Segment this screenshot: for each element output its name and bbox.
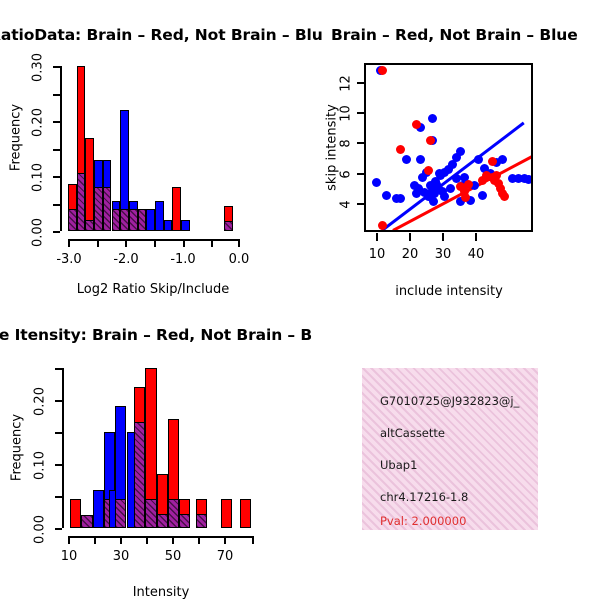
scatter-y-ticklabel: 10 (339, 99, 354, 129)
scatter-y-ticklabel: 8 (339, 129, 354, 159)
scatter-y-ticklabel: 12 (339, 69, 354, 99)
scatter-point (440, 192, 449, 201)
scatter-point (378, 221, 387, 230)
intensity-x-tick (198, 536, 200, 544)
scatter-point (396, 145, 405, 154)
histogram-bar (93, 490, 104, 528)
histogram-bar (109, 490, 116, 528)
intensity-y-tick (55, 464, 62, 466)
ratio-y-tick (53, 66, 60, 68)
intensity-x-tick (146, 536, 148, 544)
scatter-point (446, 184, 455, 193)
intensity-y-tick (55, 368, 62, 370)
scatter-y-tick (357, 82, 364, 84)
histogram-bar (81, 515, 92, 528)
scatter-point (478, 176, 487, 185)
ratio-y-tick (53, 176, 60, 178)
histogram-bar (112, 209, 121, 231)
ratio-y-tick (53, 94, 60, 96)
scatter-point (416, 155, 425, 164)
intensity-x-tick (68, 536, 70, 544)
scatter-plot-area (364, 63, 533, 232)
ratio-x-tick (183, 239, 185, 247)
histogram-bar (196, 514, 207, 528)
scatter-point (488, 157, 497, 166)
scatter-point (412, 189, 421, 198)
histogram-bar (221, 499, 232, 528)
intensity-y-ticklabel: 0.10 (33, 446, 48, 486)
scatter-x-ticklabel: 40 (456, 247, 496, 262)
ratio-y-ticklabel: 0.00 (31, 213, 46, 253)
intensity-y-tick (55, 400, 62, 402)
ratio-x-tick (125, 239, 127, 247)
histogram-bar (155, 201, 164, 231)
event-info-panel: G7010725@J932823@j_ altCassette Ubap1 ch… (362, 368, 538, 530)
ratio-histogram-title: RatioData: Brain – Red, Not Brain – Blu (0, 26, 323, 44)
ratio-x-tick (238, 239, 240, 247)
scatter-point (402, 155, 411, 164)
ratio-y-tick (53, 121, 60, 123)
scatter-point (426, 136, 435, 145)
histogram-bar (129, 209, 138, 231)
scatter-x-tick (442, 233, 444, 241)
histogram-bar (138, 209, 147, 231)
histogram-bar (240, 499, 251, 528)
scatter-x-tick (409, 233, 411, 241)
intensity-x-ticklabel: 70 (205, 549, 245, 564)
ratio-x-ticklabel: -2.0 (106, 252, 146, 267)
intensity-y-ticklabel: 0.20 (33, 382, 48, 422)
ratio-y-ticklabel: 0.20 (31, 103, 46, 143)
scatter-y-tick (357, 112, 364, 114)
histogram-bar (68, 209, 77, 231)
histogram-bar (164, 220, 173, 231)
ratio-histogram-xlabel: Log2 Ratio Skip/Include (53, 282, 253, 297)
scatter-x-tick (376, 233, 378, 241)
ratio-histogram-panel: RatioData: Brain – Red, Not Brain – Blu … (0, 0, 300, 310)
scatter-point (474, 155, 483, 164)
intensity-x-ticklabel: 30 (101, 549, 141, 564)
intensity-y-axis (62, 368, 64, 528)
scatter-point (372, 178, 381, 187)
histogram-bar (70, 499, 81, 528)
scatter-point (420, 188, 429, 197)
histogram-bar (77, 173, 86, 231)
scatter-point (498, 155, 507, 164)
intensity-x-tick (224, 536, 226, 544)
intensity-x-tick (120, 536, 122, 544)
histogram-bar (85, 138, 94, 232)
intensity-histogram-xlabel: Intensity (61, 585, 261, 600)
scatter-point (429, 197, 438, 206)
scatter-point (478, 191, 487, 200)
scatter-y-tick (357, 203, 364, 205)
ratio-x-ticklabel: -3.0 (49, 252, 89, 267)
histogram-bar (168, 499, 179, 528)
scatter-point (378, 66, 387, 75)
ratio-y-ticklabel: 0.10 (31, 158, 46, 198)
histogram-bar (179, 514, 190, 528)
histogram-bar (146, 209, 155, 231)
scatter-x-tick (475, 233, 477, 241)
histogram-bar (94, 187, 103, 231)
ratio-x-tick (211, 239, 213, 247)
histogram-bar (85, 220, 94, 231)
histogram-bar (145, 499, 156, 528)
gene-name-text: Ubap1 (380, 458, 417, 472)
scatter-point (428, 114, 437, 123)
scatter-plot-panel: Brain – Red, Not Brain – Blue skip inten… (300, 0, 600, 310)
coordinates-text: chr4.17216-1.8 (380, 490, 468, 504)
scatter-y-ticklabel: 4 (339, 190, 354, 220)
scatter-point (382, 191, 391, 200)
intensity-x-ticklabel: 10 (49, 549, 89, 564)
histogram-bar (120, 209, 129, 231)
histogram-bar (172, 187, 181, 231)
ratio-y-tick (53, 231, 60, 233)
intensity-histogram-title: ne Itensity: Brain – Red, Not Brain – B (0, 326, 312, 344)
ratio-y-tick (53, 149, 60, 151)
scatter-y-ticklabel: 6 (339, 160, 354, 190)
intensity-x-tick (94, 536, 96, 544)
ratio-x-tick (97, 239, 99, 247)
intensity-y-tick (55, 528, 62, 530)
ratio-x-tick (154, 239, 156, 247)
scatter-point (524, 175, 533, 184)
intensity-histogram-panel: ne Itensity: Brain – Red, Not Brain – B … (0, 300, 300, 600)
histogram-bar (157, 514, 168, 528)
histogram-bar (224, 221, 233, 231)
scatter-y-tick (357, 142, 364, 144)
scatter-plot-title: Brain – Red, Not Brain – Blue (331, 26, 578, 44)
intensity-x-tick (172, 536, 174, 544)
scatter-point (500, 192, 509, 201)
ratio-x-ticklabel: -1.0 (163, 252, 203, 267)
scatter-point (396, 194, 405, 203)
intensity-x-tick (252, 536, 254, 544)
ratio-y-tick (53, 204, 60, 206)
histogram-bar (134, 422, 145, 528)
ratio-x-tick (68, 239, 70, 247)
intensity-y-tick (55, 432, 62, 434)
intensity-y-tick (55, 496, 62, 498)
scatter-ylabel: skip intensity (325, 103, 340, 193)
histogram-bar (103, 187, 112, 231)
event-type-text: altCassette (380, 426, 445, 440)
event-id-text: G7010725@J932823@j_ (380, 394, 519, 408)
pval-text: Pval: 2.000000 (380, 514, 466, 528)
scatter-point (464, 180, 473, 189)
intensity-histogram-ylabel: Frequency (10, 413, 25, 483)
scatter-point (461, 193, 470, 202)
ratio-histogram-ylabel: Frequency (9, 103, 24, 173)
intensity-y-ticklabel: 0.00 (33, 510, 48, 550)
histogram-bar (181, 220, 190, 231)
histogram-bar (115, 499, 126, 528)
scatter-point (412, 120, 421, 129)
ratio-y-ticklabel: 0.30 (31, 48, 46, 88)
intensity-x-ticklabel: 50 (153, 549, 193, 564)
scatter-y-tick (357, 173, 364, 175)
scatter-xlabel: include intensity (349, 284, 549, 299)
scatter-point (424, 166, 433, 175)
ratio-y-axis (60, 66, 62, 231)
ratio-x-ticklabel: 0.0 (219, 252, 259, 267)
scatter-point (431, 177, 440, 186)
